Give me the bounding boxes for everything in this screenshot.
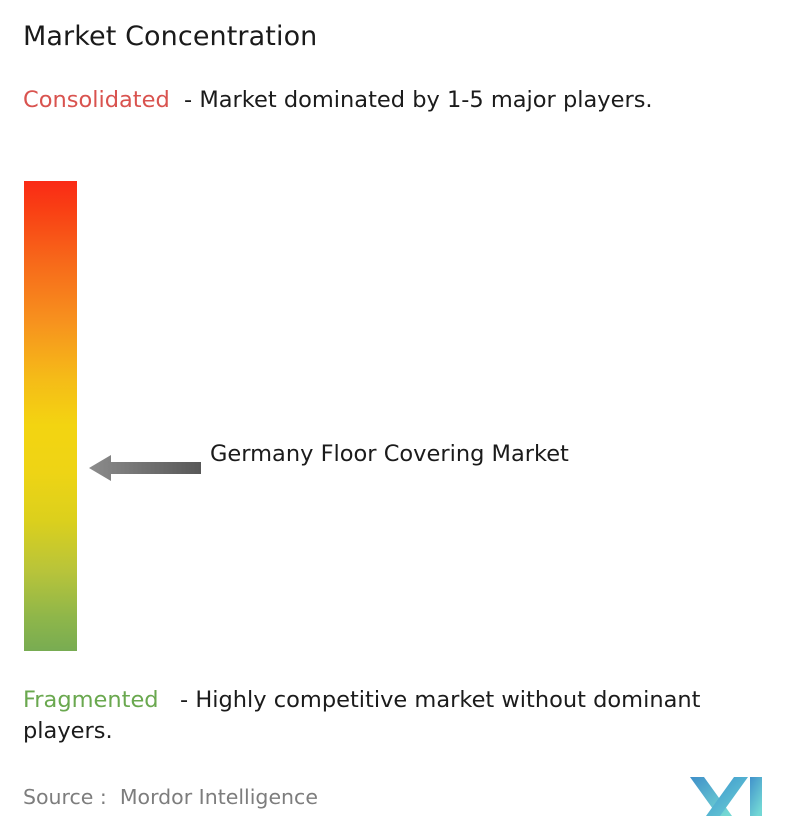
legend-fragmented-separator: -: [159, 687, 196, 713]
mordor-intelligence-logo-icon: [690, 769, 762, 816]
legend-fragmented: Fragmented - Highly competitive market w…: [23, 685, 783, 747]
source-attribution: Source : Mordor Intelligence: [23, 783, 318, 811]
legend-fragmented-key: Fragmented: [23, 687, 159, 713]
legend-consolidated-description: Market dominated by 1-5 major players.: [199, 87, 652, 113]
legend-consolidated-separator: -: [170, 87, 200, 113]
legend-consolidated: Consolidated - Market dominated by 1-5 m…: [23, 85, 775, 116]
chart-canvas: Market Concentration Consolidated - Mark…: [0, 0, 796, 834]
market-concentration-gradient-bar: [24, 181, 77, 651]
arrow-left-icon: [89, 452, 201, 484]
page-title: Market Concentration: [23, 20, 317, 54]
legend-consolidated-key: Consolidated: [23, 87, 170, 113]
pointer-label: Germany Floor Covering Market: [210, 439, 630, 470]
